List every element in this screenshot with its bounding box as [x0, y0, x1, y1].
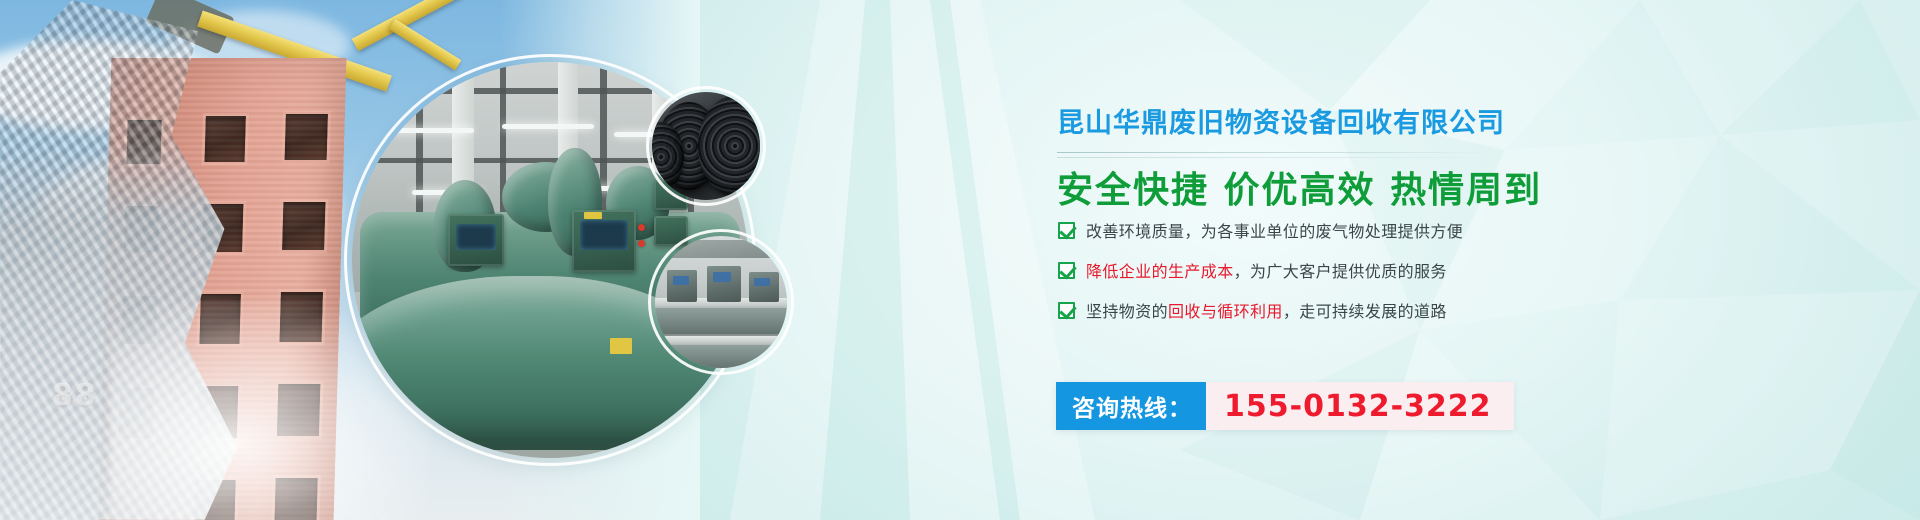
hotline-label: 咨询热线： [1056, 382, 1206, 430]
bullet-text-post: ，为广大客户提供优质的服务 [1234, 258, 1447, 282]
watermark: 88 [52, 378, 98, 413]
feature-list: 改善环境质量，为各事业单位的废气物处理提供方便 降低企业的生产成本 ，为广大客户… [1058, 210, 1758, 330]
check-icon [1058, 302, 1075, 319]
divider-line-2 [1057, 157, 1492, 158]
hotline-bar: 咨询热线： 155-0132-3222 [1056, 382, 1514, 430]
check-icon [1058, 222, 1075, 239]
promo-banner: 88 [0, 0, 1920, 520]
divider-line [1057, 152, 1492, 153]
bullet-text-post: ，走可持续发展的道路 [1283, 298, 1447, 322]
check-icon [1058, 262, 1075, 279]
list-item: 改善环境质量，为各事业单位的废气物处理提供方便 [1058, 210, 1758, 250]
bullet-text-highlight: 降低企业的生产成本 [1086, 258, 1234, 282]
workshop-interior [655, 236, 787, 368]
workshop-circle-photo [655, 236, 787, 368]
bullet-text-pre: 改善环境质量，为各事业单位的废气物处理提供方便 [1086, 218, 1463, 242]
list-item: 坚持物资的 回收与循环利用 ，走可持续发展的道路 [1058, 290, 1758, 330]
bullet-text-pre: 坚持物资的 [1086, 298, 1168, 322]
text-content-panel: 昆山华鼎废旧物资设备回收有限公司 安全快捷 价优高效 热情周到 改善环境质量，为… [1050, 0, 1910, 520]
bullet-text-highlight: 回收与循环利用 [1168, 298, 1283, 322]
steel-coils-circle-photo [652, 92, 760, 200]
slogan: 安全快捷 价优高效 热情周到 [1057, 161, 1542, 213]
company-name: 昆山华鼎废旧物资设备回收有限公司 [1057, 101, 1505, 140]
steel-coils [652, 92, 760, 200]
list-item: 降低企业的生产成本 ，为广大客户提供优质的服务 [1058, 250, 1758, 290]
hotline-number[interactable]: 155-0132-3222 [1206, 382, 1514, 430]
